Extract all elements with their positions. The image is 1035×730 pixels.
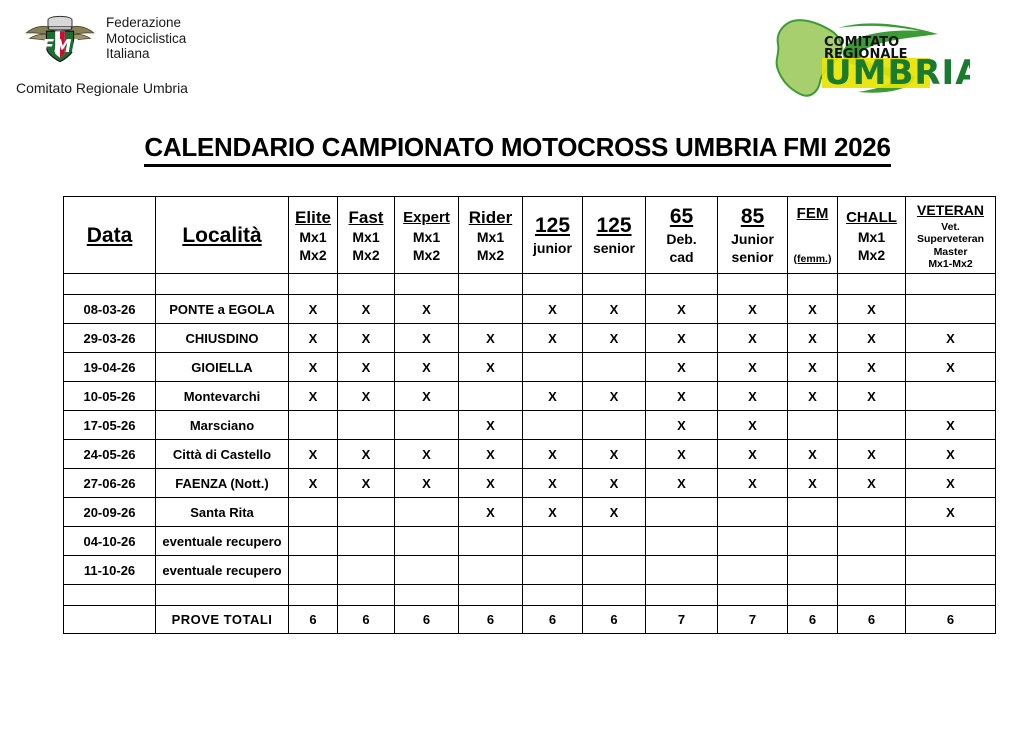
cell-mark-125junior[interactable] [523, 556, 583, 585]
page-title: CALENDARIO CAMPIONATO MOTOCROSS UMBRIA F… [0, 132, 1035, 163]
cell-mark-fast[interactable] [338, 527, 395, 556]
calendar-table: Data Località Elite Mx1 Mx2 Fast Mx1 Mx2… [63, 196, 996, 634]
cell-mark-chall[interactable]: X [838, 469, 906, 498]
cell-mark-fast[interactable]: X [338, 295, 395, 324]
cell-mark-elite[interactable]: X [289, 353, 338, 382]
cell-locality: PONTE a EGOLA [156, 295, 289, 324]
fmi-federation-name: Federazione Motociclistica Italiana [106, 15, 186, 62]
cell-mark-125senior[interactable] [583, 353, 646, 382]
umbria-line-2: REGIONALE [824, 47, 908, 62]
cell-mark-fast[interactable] [338, 498, 395, 527]
header-cell-85: 85 Junior senior [718, 197, 788, 274]
header-sub-chall-mx2: Mx2 [838, 246, 905, 264]
header-sub-85-junior: Junior [718, 230, 787, 248]
cell-mark-fast[interactable]: X [338, 440, 395, 469]
spacer-cell [788, 585, 838, 606]
cell-mark-fast[interactable]: X [338, 353, 395, 382]
header-sub-elite-mx2: Mx2 [289, 246, 337, 264]
table-row[interactable]: 08-03-26PONTE a EGOLAXXXXXXXXX [64, 295, 996, 324]
svg-text:FMI: FMI [42, 37, 79, 57]
totals-value-125junior: 6 [523, 606, 583, 634]
cell-mark-veteran[interactable] [906, 527, 996, 556]
cell-mark-fast[interactable] [338, 556, 395, 585]
header-cell-65: 65 Deb. cad [646, 197, 718, 274]
cell-mark-elite[interactable]: X [289, 440, 338, 469]
spacer-cell [906, 274, 996, 295]
cell-mark-125senior[interactable] [583, 527, 646, 556]
cell-mark-fast[interactable]: X [338, 324, 395, 353]
cell-mark-65[interactable]: X [646, 469, 718, 498]
spacer-cell [156, 585, 289, 606]
spacer-cell [156, 274, 289, 295]
header-cell-localita: Località [156, 197, 289, 274]
cell-locality: FAENZA (Nott.) [156, 469, 289, 498]
cell-mark-rider[interactable]: X [459, 411, 523, 440]
header-cell-125junior: 125 junior [523, 197, 583, 274]
cell-mark-fem[interactable]: X [788, 353, 838, 382]
cell-locality: Marsciano [156, 411, 289, 440]
cell-mark-125senior[interactable]: X [583, 469, 646, 498]
header-sub-fast-mx1: Mx1 [338, 228, 394, 246]
header-cell-elite: Elite Mx1 Mx2 [289, 197, 338, 274]
header-sub-veteran-superveteran: Superveteran [906, 233, 995, 246]
header-cell-expert: Expert Mx1 Mx2 [395, 197, 459, 274]
cell-mark-expert[interactable] [395, 498, 459, 527]
table-row[interactable]: 10-05-26MontevarchiXXXXXXXXX [64, 382, 996, 411]
header-sub-125senior: senior [583, 239, 645, 257]
header-cell-fast: Fast Mx1 Mx2 [338, 197, 395, 274]
totals-value-fast: 6 [338, 606, 395, 634]
header-label-65: 65 [646, 204, 717, 230]
cell-mark-rider[interactable]: X [459, 353, 523, 382]
cell-date: 27-06-26 [64, 469, 156, 498]
table-row[interactable]: 20-09-26Santa RitaXXXX [64, 498, 996, 527]
cell-mark-65[interactable] [646, 556, 718, 585]
header-sub-expert-mx2: Mx2 [395, 246, 458, 264]
spacer-cell [718, 585, 788, 606]
header-label-85: 85 [718, 204, 787, 230]
header-sub-veteran-mx: Mx1-Mx2 [906, 258, 995, 271]
header-label-125junior: 125 [523, 213, 582, 239]
cell-mark-65[interactable] [646, 498, 718, 527]
cell-mark-65[interactable]: X [646, 440, 718, 469]
cell-mark-85[interactable]: X [718, 382, 788, 411]
header-cell-125senior: 125 senior [583, 197, 646, 274]
cell-mark-rider[interactable] [459, 556, 523, 585]
cell-date: 11-10-26 [64, 556, 156, 585]
cell-mark-125junior[interactable] [523, 353, 583, 382]
spacer-cell [64, 274, 156, 295]
cell-date: 19-04-26 [64, 353, 156, 382]
cell-mark-expert[interactable] [395, 556, 459, 585]
cell-locality: Santa Rita [156, 498, 289, 527]
cell-date: 04-10-26 [64, 527, 156, 556]
header-cell-fem: FEM (femm.) [788, 197, 838, 274]
cell-mark-125junior[interactable]: X [523, 469, 583, 498]
spacer-cell [289, 585, 338, 606]
cell-mark-fem[interactable] [788, 498, 838, 527]
cell-mark-chall[interactable] [838, 527, 906, 556]
totals-value-rider: 6 [459, 606, 523, 634]
cell-mark-chall[interactable]: X [838, 324, 906, 353]
spacer-cell [395, 274, 459, 295]
header-sub-veteran-vet: Vet. [906, 221, 995, 234]
cell-mark-125junior[interactable]: X [523, 295, 583, 324]
cell-mark-fem[interactable]: X [788, 324, 838, 353]
spacer-row-top [64, 274, 996, 295]
cell-locality: eventuale recupero [156, 556, 289, 585]
cell-mark-rider[interactable]: X [459, 324, 523, 353]
totals-label: PROVE TOTALI [156, 606, 289, 634]
cell-locality: CHIUSDINO [156, 324, 289, 353]
cell-date: 17-05-26 [64, 411, 156, 440]
spacer-cell [338, 274, 395, 295]
totals-value-chall: 6 [838, 606, 906, 634]
header-sub-65-cad: cad [646, 248, 717, 266]
calendar-table-header: Data Località Elite Mx1 Mx2 Fast Mx1 Mx2… [64, 197, 996, 274]
header-label-rider: Rider [459, 207, 522, 228]
cell-mark-expert[interactable]: X [395, 324, 459, 353]
cell-mark-veteran[interactable] [906, 556, 996, 585]
cell-mark-125senior[interactable]: X [583, 382, 646, 411]
cell-mark-expert[interactable]: X [395, 440, 459, 469]
header-label-chall: CHALL [838, 207, 905, 228]
header-cell-veteran: VETERAN Vet. Superveteran Master Mx1-Mx2 [906, 197, 996, 274]
cell-date: 08-03-26 [64, 295, 156, 324]
umbria-region-logo: UMBRIA COMITATO REGIONALE [760, 4, 970, 104]
cell-mark-elite[interactable] [289, 556, 338, 585]
cell-mark-65[interactable]: X [646, 411, 718, 440]
cell-mark-125junior[interactable]: X [523, 440, 583, 469]
cell-mark-elite[interactable]: X [289, 295, 338, 324]
spacer-cell [64, 585, 156, 606]
header-sub-veteran-master: Master [906, 246, 995, 259]
cell-mark-veteran[interactable] [906, 382, 996, 411]
fmi-winged-helmet-icon: FMI [20, 12, 100, 68]
fmi-name-line-2: Motociclistica [106, 31, 186, 47]
cell-mark-85[interactable] [718, 498, 788, 527]
cell-mark-veteran[interactable]: X [906, 469, 996, 498]
cell-mark-veteran[interactable]: X [906, 411, 996, 440]
cell-locality: eventuale recupero [156, 527, 289, 556]
cell-locality: Città di Castello [156, 440, 289, 469]
cell-mark-elite[interactable] [289, 498, 338, 527]
spacer-cell [523, 585, 583, 606]
header-sub-expert-mx1: Mx1 [395, 228, 458, 246]
spacer-cell [523, 274, 583, 295]
spacer-cell [646, 585, 718, 606]
cell-mark-125senior[interactable] [583, 556, 646, 585]
cell-mark-85[interactable] [718, 527, 788, 556]
cell-date: 24-05-26 [64, 440, 156, 469]
fmi-name-line-3: Italiana [106, 46, 186, 62]
cell-mark-rider[interactable]: X [459, 498, 523, 527]
cell-mark-expert[interactable] [395, 411, 459, 440]
cell-mark-fem[interactable] [788, 556, 838, 585]
header-label-expert: Expert [395, 207, 458, 228]
cell-mark-125junior[interactable] [523, 411, 583, 440]
table-row[interactable]: 11-10-26eventuale recupero [64, 556, 996, 585]
cell-mark-65[interactable]: X [646, 382, 718, 411]
header-sub-chall-mx1: Mx1 [838, 228, 905, 246]
cell-mark-125junior[interactable]: X [523, 324, 583, 353]
cell-mark-expert[interactable]: X [395, 469, 459, 498]
cell-mark-rider[interactable] [459, 295, 523, 324]
cell-locality: GIOIELLA [156, 353, 289, 382]
cell-mark-fast[interactable] [338, 411, 395, 440]
cell-mark-expert[interactable]: X [395, 382, 459, 411]
spacer-cell [583, 585, 646, 606]
cell-mark-elite[interactable]: X [289, 382, 338, 411]
cell-mark-elite[interactable]: X [289, 469, 338, 498]
cell-mark-125senior[interactable]: X [583, 498, 646, 527]
header-label-fast: Fast [338, 207, 394, 228]
header-label-elite: Elite [289, 207, 337, 228]
cell-mark-fast[interactable]: X [338, 382, 395, 411]
header-sub-fem: (femm.) [788, 250, 837, 268]
cell-mark-veteran[interactable]: X [906, 324, 996, 353]
cell-mark-rider[interactable] [459, 382, 523, 411]
header-sub-elite-mx1: Mx1 [289, 228, 337, 246]
cell-mark-65[interactable]: X [646, 295, 718, 324]
table-row[interactable]: 04-10-26eventuale recupero [64, 527, 996, 556]
cell-mark-85[interactable]: X [718, 295, 788, 324]
cell-mark-chall[interactable] [838, 411, 906, 440]
cell-mark-elite[interactable] [289, 527, 338, 556]
spacer-cell [646, 274, 718, 295]
cell-mark-rider[interactable] [459, 527, 523, 556]
cell-mark-expert[interactable] [395, 527, 459, 556]
spacer-cell [838, 274, 906, 295]
cell-mark-fem[interactable] [788, 411, 838, 440]
table-row[interactable]: 24-05-26Città di CastelloXXXXXXXXXXX [64, 440, 996, 469]
spacer-cell [788, 274, 838, 295]
totals-value-veteran: 6 [906, 606, 996, 634]
header-label-veteran: VETERAN [906, 200, 995, 221]
fmi-name-line-1: Federazione [106, 15, 186, 31]
table-row[interactable]: 19-04-26GIOIELLAXXXXXXXXX [64, 353, 996, 382]
masthead: FMI Federazione Motociclistica Italiana … [0, 0, 1035, 112]
cell-mark-chall[interactable]: X [838, 382, 906, 411]
cell-mark-elite[interactable] [289, 411, 338, 440]
spacer-cell [289, 274, 338, 295]
header-sub-rider-mx1: Mx1 [459, 228, 522, 246]
totals-value-fem: 6 [788, 606, 838, 634]
calendar-table-container: Data Località Elite Mx1 Mx2 Fast Mx1 Mx2… [63, 196, 995, 634]
header-sub-85-senior: senior [718, 248, 787, 266]
cell-mark-veteran[interactable]: X [906, 440, 996, 469]
cell-mark-fem[interactable]: X [788, 295, 838, 324]
cell-mark-chall[interactable] [838, 498, 906, 527]
cell-mark-expert[interactable]: X [395, 353, 459, 382]
cell-mark-125senior[interactable]: X [583, 324, 646, 353]
spacer-cell [838, 585, 906, 606]
cell-mark-85[interactable]: X [718, 324, 788, 353]
table-row[interactable]: 27-06-26FAENZA (Nott.)XXXXXXXXXXX [64, 469, 996, 498]
cell-mark-125senior[interactable]: X [583, 295, 646, 324]
cell-date: 29-03-26 [64, 324, 156, 353]
totals-row: PROVE TOTALI66666677666 [64, 606, 996, 634]
cell-mark-85[interactable]: X [718, 411, 788, 440]
header-cell-chall: CHALL Mx1 Mx2 [838, 197, 906, 274]
cell-mark-65[interactable] [646, 527, 718, 556]
table-row[interactable]: 29-03-26CHIUSDINOXXXXXXXXXXX [64, 324, 996, 353]
cell-mark-elite[interactable]: X [289, 324, 338, 353]
totals-value-65: 7 [646, 606, 718, 634]
cell-mark-125junior[interactable]: X [523, 382, 583, 411]
header-label-fem: FEM [788, 203, 837, 224]
totals-value-125senior: 6 [583, 606, 646, 634]
cell-mark-85[interactable] [718, 556, 788, 585]
cell-mark-65[interactable]: X [646, 353, 718, 382]
cell-date: 20-09-26 [64, 498, 156, 527]
cell-mark-125senior[interactable] [583, 411, 646, 440]
cell-mark-85[interactable]: X [718, 440, 788, 469]
spacer-cell [459, 274, 523, 295]
header-label-125senior: 125 [583, 213, 645, 239]
cell-mark-fem[interactable]: X [788, 469, 838, 498]
cell-mark-chall[interactable]: X [838, 440, 906, 469]
cell-mark-85[interactable]: X [718, 353, 788, 382]
header-sub-125junior: junior [523, 239, 582, 257]
cell-mark-expert[interactable]: X [395, 295, 459, 324]
spacer-cell [459, 585, 523, 606]
cell-mark-65[interactable]: X [646, 324, 718, 353]
header-sub-fast-mx2: Mx2 [338, 246, 394, 264]
cell-mark-chall[interactable]: X [838, 295, 906, 324]
cell-mark-125senior[interactable]: X [583, 440, 646, 469]
header-row: Data Località Elite Mx1 Mx2 Fast Mx1 Mx2… [64, 197, 996, 274]
spacer-cell [906, 585, 996, 606]
cell-mark-fast[interactable]: X [338, 469, 395, 498]
cell-mark-85[interactable]: X [718, 469, 788, 498]
spacer-cell [718, 274, 788, 295]
spacer-cell [583, 274, 646, 295]
header-cell-rider: Rider Mx1 Mx2 [459, 197, 523, 274]
cell-mark-chall[interactable] [838, 556, 906, 585]
cell-date: 10-05-26 [64, 382, 156, 411]
cell-mark-chall[interactable]: X [838, 353, 906, 382]
cell-mark-125junior[interactable] [523, 527, 583, 556]
cell-mark-rider[interactable]: X [459, 440, 523, 469]
totals-value-elite: 6 [289, 606, 338, 634]
cell-mark-rider[interactable]: X [459, 469, 523, 498]
spacer-cell [395, 585, 459, 606]
cell-mark-fem[interactable] [788, 527, 838, 556]
header-sub-rider-mx2: Mx2 [459, 246, 522, 264]
cell-mark-veteran[interactable]: X [906, 498, 996, 527]
totals-empty-cell [64, 606, 156, 634]
table-row[interactable]: 17-05-26MarscianoXXXX [64, 411, 996, 440]
totals-value-85: 7 [718, 606, 788, 634]
cell-mark-veteran[interactable]: X [906, 353, 996, 382]
cell-mark-125junior[interactable]: X [523, 498, 583, 527]
page-title-text: CALENDARIO CAMPIONATO MOTOCROSS UMBRIA F… [144, 132, 890, 167]
calendar-table-body: 08-03-26PONTE a EGOLAXXXXXXXXX29-03-26CH… [64, 274, 996, 634]
spacer-row-bottom [64, 585, 996, 606]
fmi-logo: FMI Federazione Motociclistica Italiana … [14, 8, 214, 104]
header-sub-65-deb: Deb. [646, 230, 717, 248]
header-cell-data: Data [64, 197, 156, 274]
spacer-cell [338, 585, 395, 606]
header-label-data: Data [64, 225, 155, 246]
cell-locality: Montevarchi [156, 382, 289, 411]
header-label-localita: Località [156, 225, 288, 246]
cell-mark-veteran[interactable] [906, 295, 996, 324]
totals-value-expert: 6 [395, 606, 459, 634]
fmi-regional-committee-label: Comitato Regionale Umbria [16, 80, 188, 96]
cell-mark-fem[interactable]: X [788, 440, 838, 469]
cell-mark-fem[interactable]: X [788, 382, 838, 411]
